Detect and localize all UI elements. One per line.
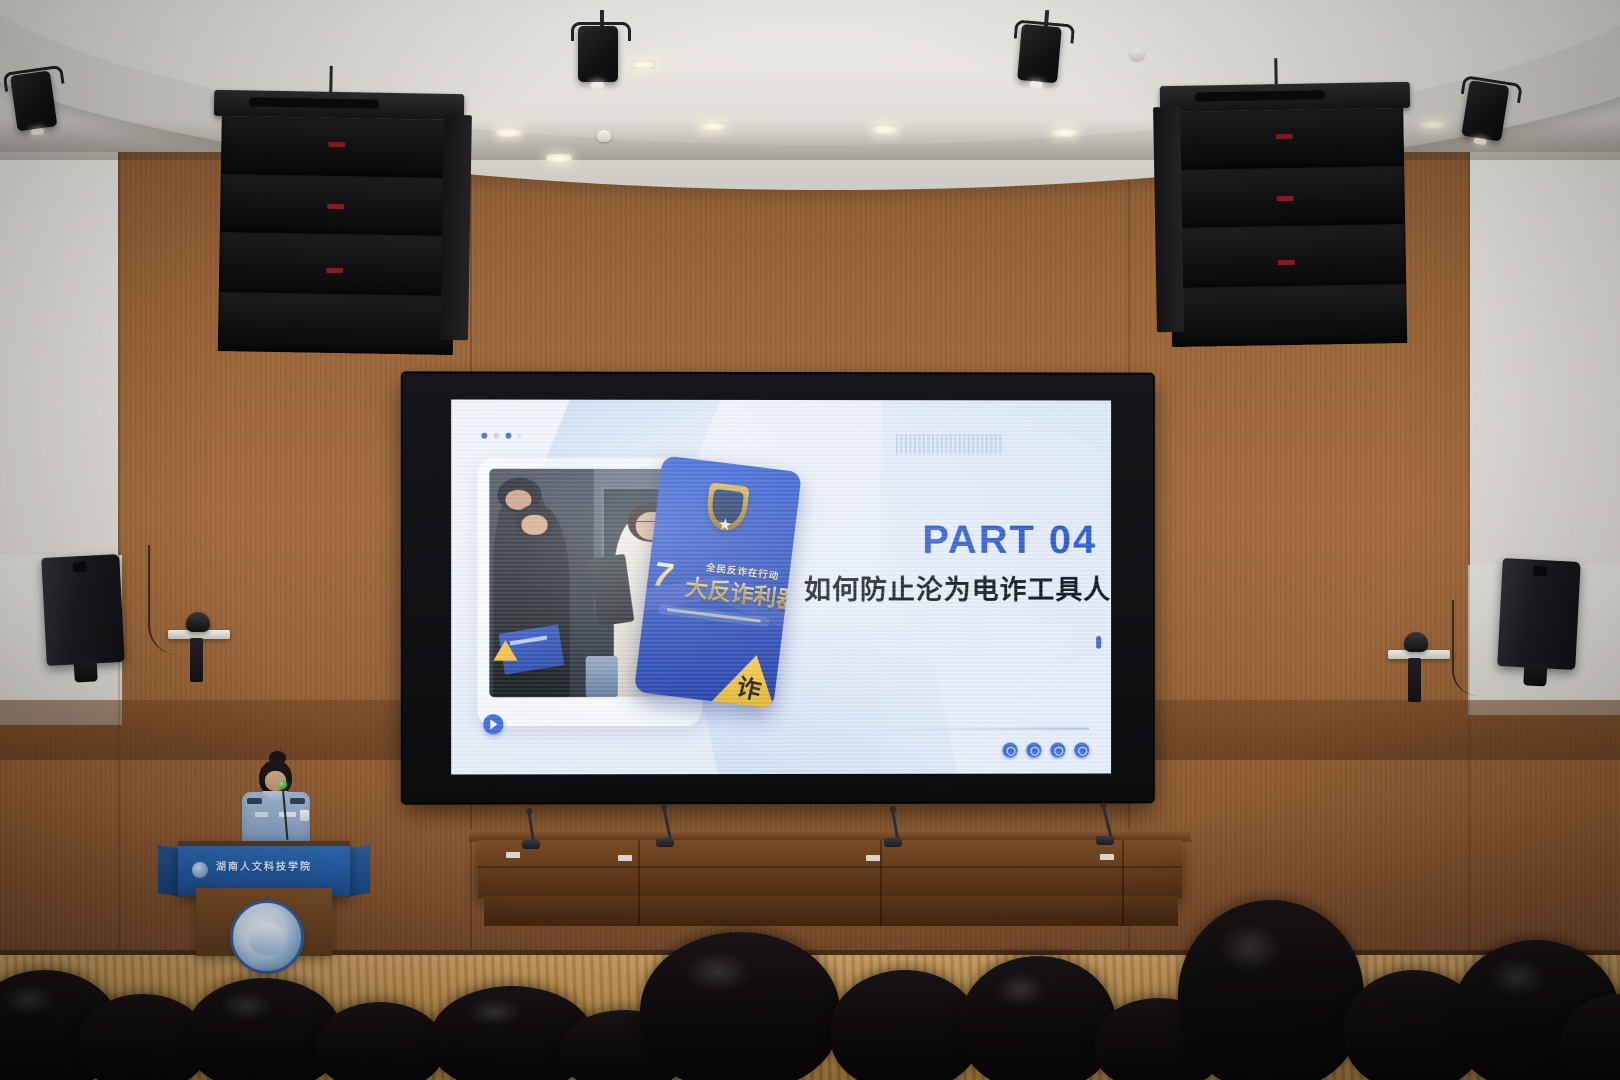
microphone-base xyxy=(1096,836,1114,845)
ceiling-downlight xyxy=(630,60,656,69)
play-icon[interactable] xyxy=(483,714,503,734)
speaker-hanger xyxy=(329,66,332,94)
line-array-speaker-right xyxy=(1160,82,1415,348)
anti-fraud-poster-card: 全民反诈在行动 7 大反诈利器 诈 xyxy=(634,455,802,708)
photo-luggage xyxy=(586,656,618,697)
podium-banner-text: 湖南人文科技学院 xyxy=(178,858,350,873)
cable xyxy=(1452,600,1478,696)
stage-floor xyxy=(0,955,1620,1080)
line-array-speaker-left xyxy=(210,90,465,356)
projection-screen-frame: 全民反诈在行动 7 大反诈利器 诈 PART 04 如何防止沦为电诈工具人 xyxy=(403,373,1153,802)
right-white-wall xyxy=(1470,140,1620,580)
presenter-name-tag xyxy=(279,812,296,817)
dot-icon xyxy=(481,433,487,439)
circle-icon xyxy=(1003,743,1018,758)
ceiling-sensor-dome xyxy=(1130,48,1144,60)
presenter xyxy=(240,754,312,846)
speaker-module xyxy=(1168,108,1404,171)
table-lower-panel xyxy=(484,896,1178,926)
speaker-mount xyxy=(73,659,98,682)
speaker-logo-badge xyxy=(1278,260,1295,265)
table-nameplate xyxy=(618,855,632,861)
table-seam xyxy=(1122,840,1124,926)
wall-speaker-left xyxy=(41,554,125,666)
speaker-side-panel xyxy=(440,115,471,341)
table-nameplate xyxy=(506,852,520,858)
speaker-logo-badge xyxy=(1277,196,1294,201)
slide-part-label: PART 04 xyxy=(922,518,1097,563)
table-seam xyxy=(880,840,882,926)
table-seam xyxy=(638,840,640,926)
speaker-module xyxy=(1171,284,1407,347)
speaker-module xyxy=(218,232,454,297)
warning-glyph: 诈 xyxy=(734,667,765,706)
university-seal-icon xyxy=(230,900,304,974)
dot-icon xyxy=(493,433,499,439)
wall-seam xyxy=(1468,140,1470,970)
barcode-decoration xyxy=(896,434,1004,454)
microphone-indicator-icon xyxy=(278,780,287,789)
ceiling-downlight xyxy=(546,154,572,163)
conference-table xyxy=(470,830,1190,926)
circle-icon xyxy=(1074,743,1089,758)
speaker-port xyxy=(1533,566,1548,576)
dot-icon xyxy=(517,434,521,438)
slide-dots-decoration xyxy=(481,433,521,439)
cable xyxy=(148,545,178,655)
ceiling-downlight xyxy=(1420,120,1446,129)
lecture-hall-photo: 全民反诈在行动 7 大反诈利器 诈 PART 04 如何防止沦为电诈工具人 xyxy=(0,0,1620,1080)
ceiling-downlight xyxy=(1052,128,1078,137)
slide-side-marker xyxy=(1096,636,1101,649)
speaker-module xyxy=(217,292,453,355)
presenter-badge-tag xyxy=(255,812,268,817)
microphone-base xyxy=(884,838,902,847)
speaker-logo-badge xyxy=(328,142,345,147)
slide-footer-rule xyxy=(885,728,1089,730)
dot-icon xyxy=(505,433,511,439)
spotlight-lens xyxy=(1030,81,1043,88)
spotlight-body xyxy=(10,70,57,131)
projection-screen: 全民反诈在行动 7 大反诈利器 诈 PART 04 如何防止沦为电诈工具人 xyxy=(451,399,1111,774)
camera-bracket-right xyxy=(1408,658,1421,702)
presenter-arm-patch xyxy=(300,810,309,821)
circle-icon xyxy=(1050,743,1065,758)
left-white-wall xyxy=(0,140,118,560)
speaker-logo-badge xyxy=(326,268,343,273)
table-nameplate xyxy=(866,855,880,861)
speaker-hanger xyxy=(1274,58,1277,86)
table-front-panel xyxy=(478,840,1182,898)
speaker-mount xyxy=(1523,663,1548,686)
ptz-camera-left xyxy=(186,612,210,632)
presenter-epaulette xyxy=(290,798,305,804)
spotlight-body xyxy=(578,26,618,82)
ptz-camera-right xyxy=(1404,632,1428,652)
speaker-logo-badge xyxy=(327,204,344,209)
photo-officer-face xyxy=(521,514,547,535)
microphone-base xyxy=(522,840,540,849)
ceiling-downlight xyxy=(496,128,522,137)
speaker-side-panel xyxy=(1153,107,1184,333)
ceiling-sensor-dome xyxy=(597,130,611,142)
wall-speaker-right xyxy=(1497,558,1581,670)
speaker-module xyxy=(1170,224,1406,289)
ceiling-downlight xyxy=(872,125,898,134)
slide-subtitle: 如何防止沦为电诈工具人 xyxy=(804,568,1111,607)
slide-footer-icons xyxy=(1003,743,1090,758)
camera-bracket-left xyxy=(190,638,203,682)
speaker-port xyxy=(73,562,88,572)
circle-icon xyxy=(1026,743,1041,758)
speaker-logo-badge xyxy=(1276,134,1293,139)
ceiling-downlight xyxy=(700,122,726,131)
spotlight-lens xyxy=(591,82,604,88)
table-nameplate xyxy=(1100,854,1114,860)
microphone-base xyxy=(656,838,674,847)
speaker-module xyxy=(220,116,456,179)
spotlight-body xyxy=(1017,24,1062,83)
presenter-epaulette xyxy=(247,798,262,804)
